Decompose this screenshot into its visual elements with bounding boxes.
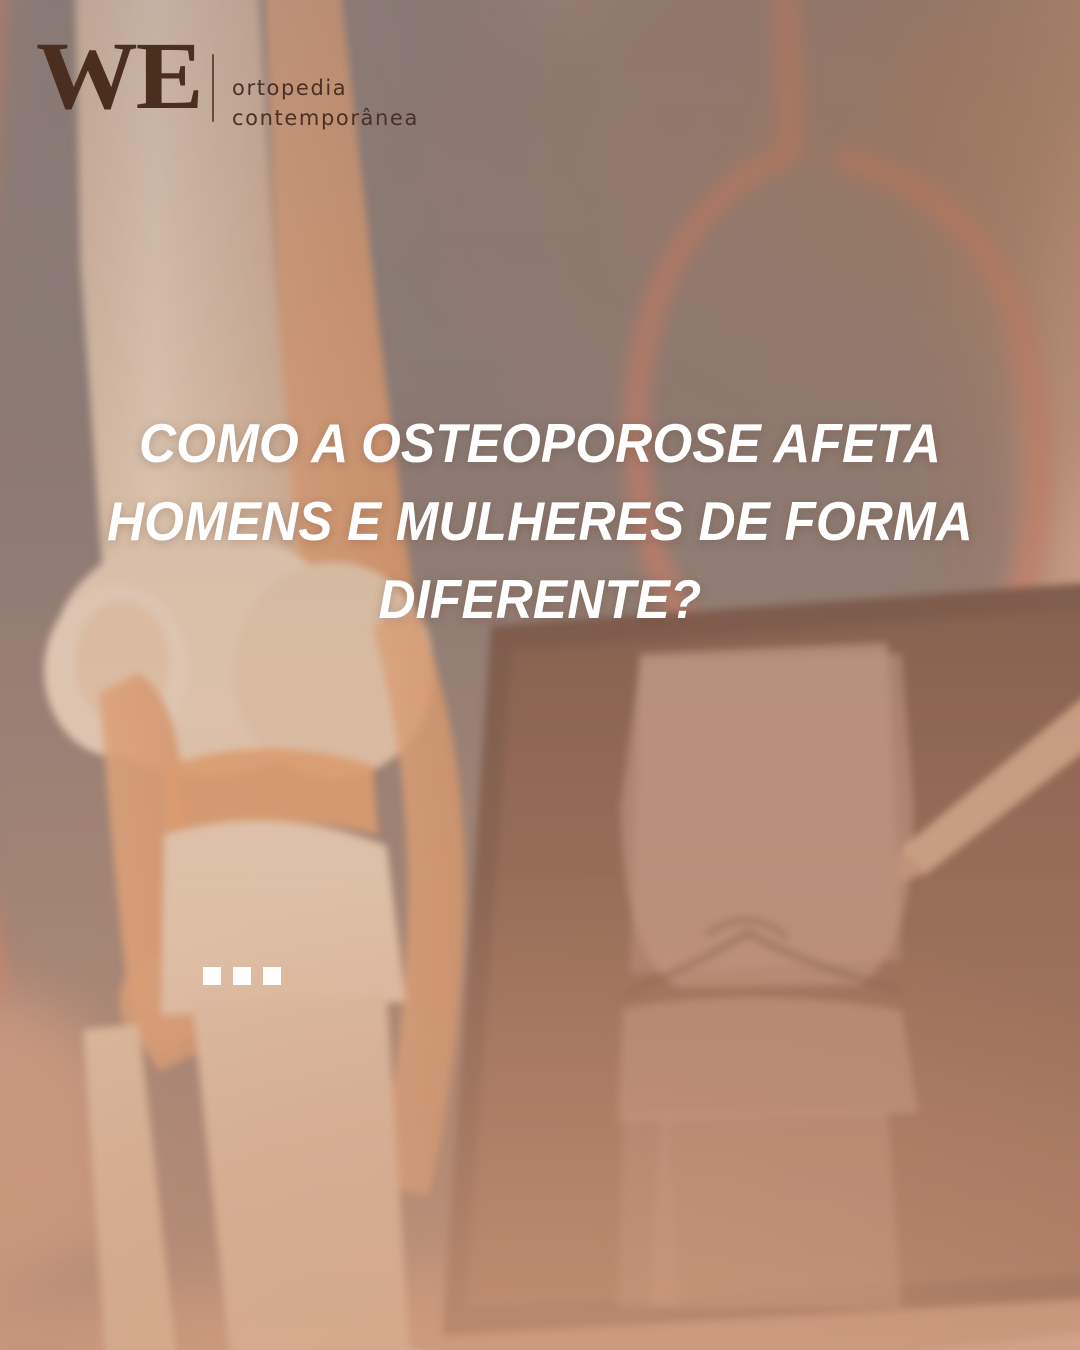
brand-tagline: ortopedia contemporânea [232, 74, 419, 134]
brand-wordmark: WE [36, 32, 201, 120]
logo-divider [212, 54, 214, 122]
square-dot-1 [203, 967, 221, 985]
square-dot-2 [233, 967, 251, 985]
brand-logo: WE ortopedia contemporânea [36, 32, 419, 134]
square-dots-decoration [203, 967, 281, 985]
soft-vignette-overlay [0, 0, 1080, 1350]
page-title: COMO A OSTEOPOROSE AFETA HOMENS E MULHER… [38, 404, 1042, 638]
square-dot-3 [263, 967, 281, 985]
poster-canvas: WE ortopedia contemporânea COMO A OSTEOP… [0, 0, 1080, 1350]
